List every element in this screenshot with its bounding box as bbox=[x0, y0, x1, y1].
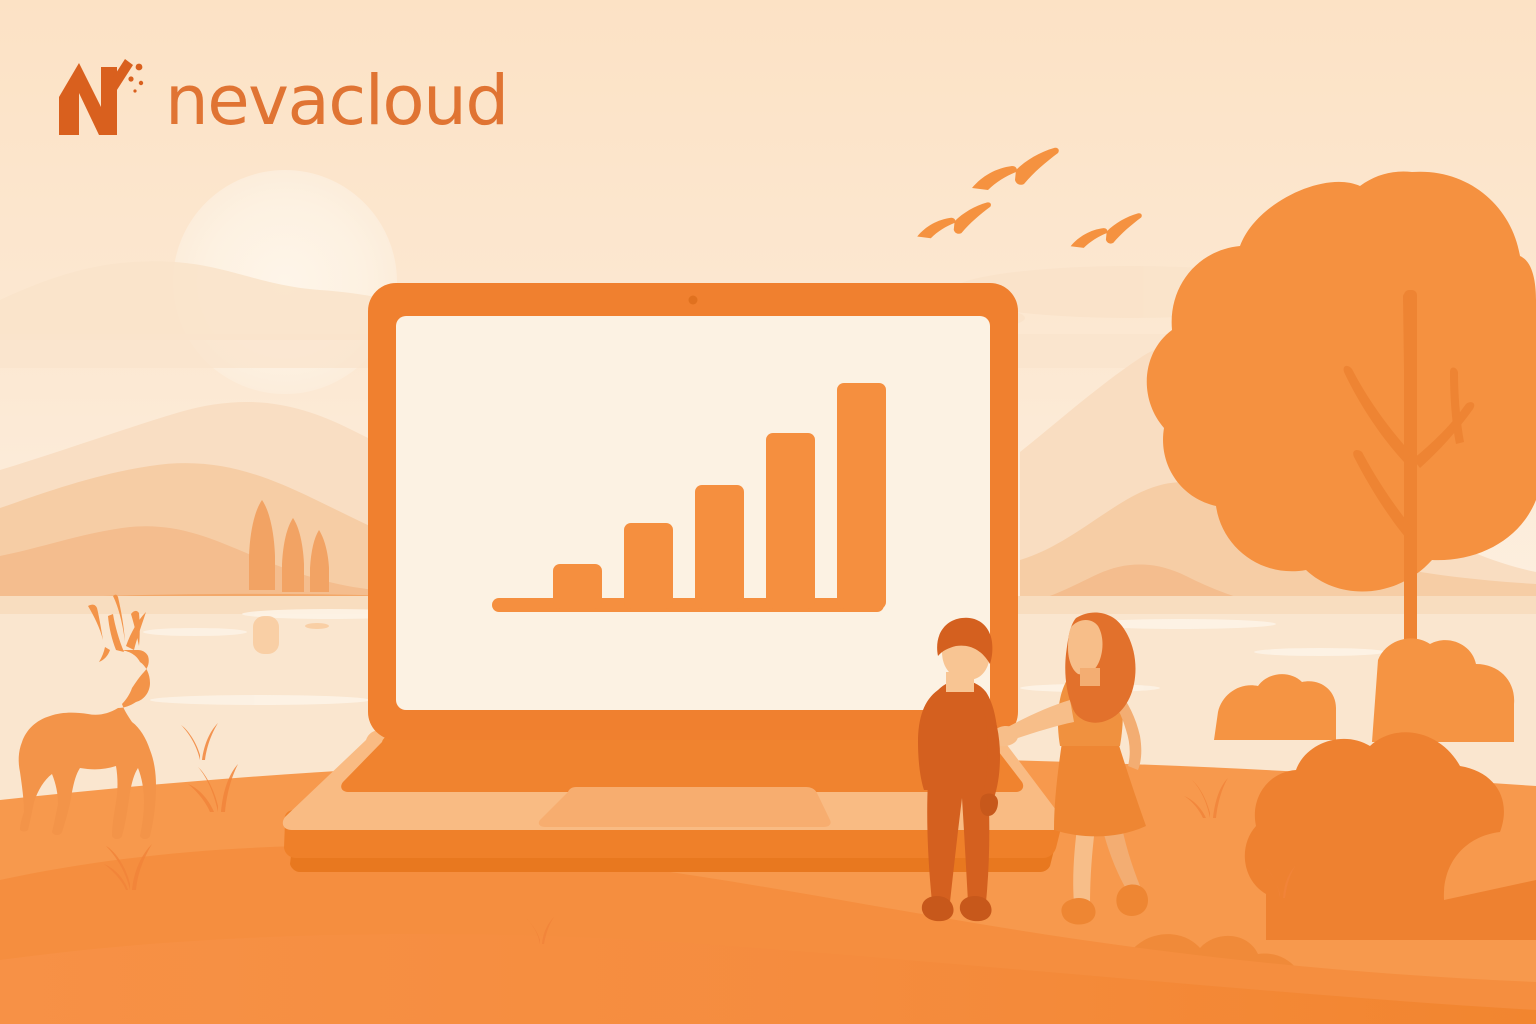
nevacloud-n-logo-icon[interactable] bbox=[55, 57, 151, 141]
illustration-canvas: nevacloud bbox=[0, 0, 1536, 1024]
brand-wordmark: nevacloud bbox=[165, 67, 508, 136]
grain-overlay bbox=[0, 0, 1536, 1024]
landscape-scene bbox=[0, 0, 1536, 1024]
brand-lockup[interactable]: nevacloud bbox=[55, 57, 508, 141]
